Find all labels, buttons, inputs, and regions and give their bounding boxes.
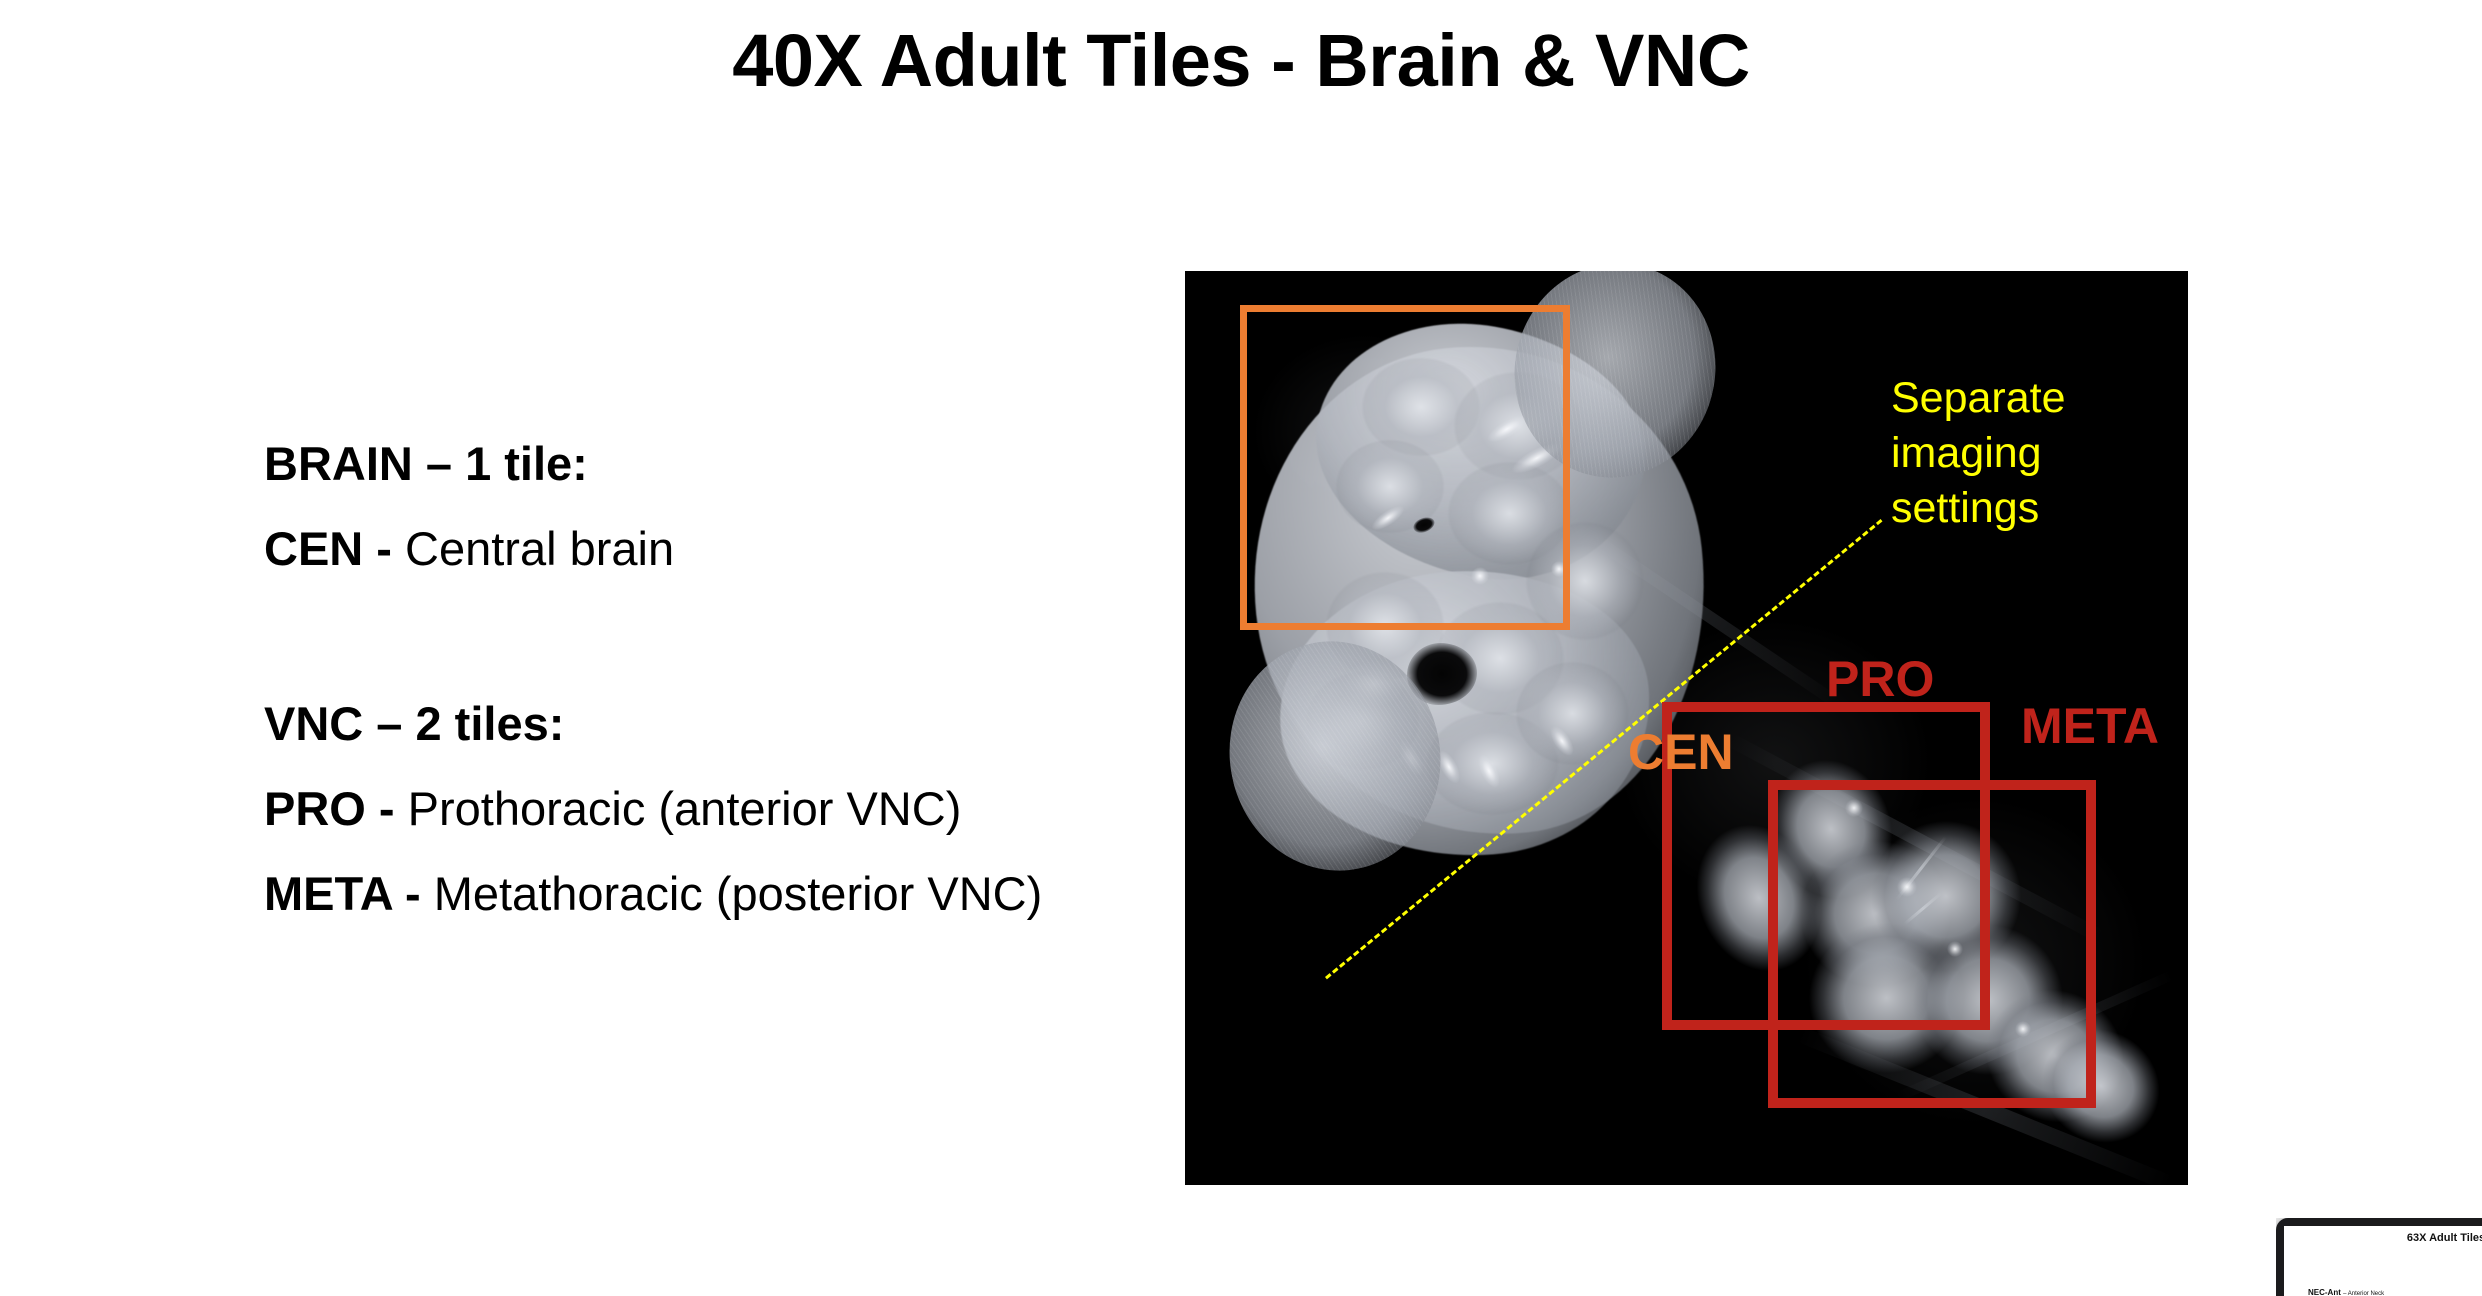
microscopy-image-panel: CEN PRO META Separate imaging settings xyxy=(1185,271,2188,1185)
pro-box-label: PRO xyxy=(1826,654,1934,704)
pro-description-label: Prothoracic (anterior VNC) xyxy=(408,782,962,835)
brain-section-heading: BRAIN – 1 tile: xyxy=(264,440,1124,487)
thumbnail-slide-page: 63X Adult Tiles NEC-Ant – Anterior Neck … xyxy=(2284,1226,2482,1296)
legend-row-meta: META - Metathoracic (posterior VNC) xyxy=(264,870,1124,917)
thumbnail-device-frame: 63X Adult Tiles NEC-Ant – Anterior Neck … xyxy=(2276,1218,2482,1296)
pro-code-label: PRO - xyxy=(264,782,395,835)
note-line-2: imaging xyxy=(1891,426,2066,481)
nec-ant-description-label: – Anterior Neck xyxy=(2343,1291,2384,1296)
next-slide-thumbnail[interactable]: 63X Adult Tiles NEC-Ant – Anterior Neck … xyxy=(2276,1218,2482,1296)
cen-description-label: Central brain xyxy=(405,522,674,575)
tile-legend: BRAIN – 1 tile: CEN - Central brain VNC … xyxy=(264,440,1124,917)
note-line-1: Separate xyxy=(1891,371,2066,426)
brain-heading-label: BRAIN – 1 tile: xyxy=(264,437,588,490)
cen-code-label: CEN - xyxy=(264,522,392,575)
separate-imaging-settings-note: Separate imaging settings xyxy=(1891,371,2066,536)
cen-tile-box[interactable] xyxy=(1240,305,1570,630)
meta-box-label: META xyxy=(2021,701,2159,751)
page-title: 40X Adult Tiles - Brain & VNC xyxy=(0,18,2482,103)
note-line-3: settings xyxy=(1891,481,2066,536)
legend-spacer xyxy=(264,572,1124,700)
thumbnail-legend-row-nec-ant: NEC-Ant – Anterior Neck xyxy=(2308,1288,2384,1296)
cen-box-label: CEN xyxy=(1628,727,1734,777)
thumbnail-title: 63X Adult Tiles xyxy=(2284,1232,2482,1244)
legend-row-pro: PRO - Prothoracic (anterior VNC) xyxy=(264,785,1124,832)
meta-description-label: Metathoracic (posterior VNC) xyxy=(434,867,1043,920)
legend-row-cen: CEN - Central brain xyxy=(264,525,1124,572)
vnc-section-heading: VNC – 2 tiles: xyxy=(264,700,1124,747)
meta-code-label: META - xyxy=(264,867,421,920)
meta-tile-box[interactable] xyxy=(1768,780,2096,1108)
vnc-heading-label: VNC – 2 tiles: xyxy=(264,697,564,750)
nec-ant-code-label: NEC-Ant xyxy=(2308,1288,2341,1296)
